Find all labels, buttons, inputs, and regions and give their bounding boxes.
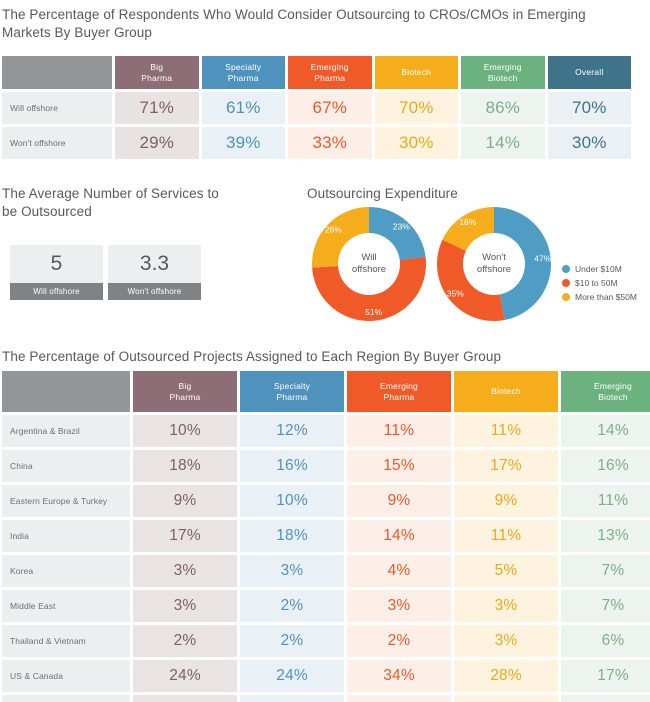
page-title-outsourcing-consideration: The Percentage of Respondents Who Would … [2, 6, 632, 42]
table-row-label: Thailand & Vietnam [2, 625, 130, 657]
table-column-emerging-biotech: EmergingBiotech86%14% [461, 56, 545, 159]
table-cell-value: 12% [240, 415, 344, 447]
table-column-specialty-pharma: SpecialtyPharma12%16%10%18%3%2%2%24%14% [240, 371, 344, 702]
table-cell-value: 24% [240, 660, 344, 692]
donut-svg: 47%35%18% [435, 205, 553, 323]
table-row-label: Korea [2, 555, 130, 587]
table-cell-value: 7% [561, 555, 650, 587]
table-cell-value: 16% [240, 450, 344, 482]
table-cell-value: 14% [240, 695, 344, 702]
donut-svg: 23%51%26% [310, 205, 428, 323]
table-outsourcing-consideration: Will offshoreWon't offshoreBigPharma71%2… [2, 56, 634, 159]
table-cell-value: 3% [454, 590, 558, 622]
table-row-label: Eastern Europe & Turkey [2, 485, 130, 517]
column-header: EmergingPharma [347, 371, 451, 412]
table-cell-value: 70% [375, 92, 459, 124]
table-cell-value: 7% [561, 590, 650, 622]
legend-item-label: $10 to 50M [575, 278, 618, 288]
legend-item-label: More than $50M [575, 292, 637, 302]
column-header [2, 371, 130, 412]
table-cell-value: 17% [454, 450, 558, 482]
table-column-big-pharma: BigPharma71%29% [115, 56, 199, 159]
table-cell-value: 3% [133, 590, 237, 622]
stat-box-will-offshore: 5 Will offshore [10, 245, 103, 300]
stat-label: Will offshore [10, 283, 103, 300]
table-cell-value: 2% [240, 590, 344, 622]
stat-value: 3.3 [108, 245, 201, 283]
column-header: BigPharma [133, 371, 237, 412]
table-cell-value: 34% [347, 660, 451, 692]
legend-color-swatch-icon [562, 279, 570, 287]
table-cell-value: 2% [347, 625, 451, 657]
table-cell-value: 18% [133, 450, 237, 482]
table-row-label: Won't offshore [2, 127, 112, 159]
table-cell-value: 39% [202, 127, 286, 159]
stat-value: 5 [10, 245, 103, 283]
table-cell-value: 16% [561, 450, 650, 482]
table-cell-value: 30% [548, 127, 632, 159]
table-cell-value: 17% [561, 660, 650, 692]
table-cell-value: 17% [133, 520, 237, 552]
table-cell-value: 3% [454, 625, 558, 657]
donut-chart-will-offshore: 23%51%26%Willoffshore [310, 205, 428, 323]
table-cell-value: 14% [133, 695, 237, 702]
table-cell-value: 3% [240, 555, 344, 587]
table-column-emerging-pharma: EmergingPharma11%15%9%14%4%3%2%34%9% [347, 371, 451, 702]
table-cell-value: 14% [347, 520, 451, 552]
donut-slice--10-to-50m [437, 240, 505, 321]
table-cell-value: 4% [347, 555, 451, 587]
table-row-label: Western Europe [2, 695, 130, 702]
table-cell-value: 9% [454, 485, 558, 517]
table-cell-value: 2% [240, 625, 344, 657]
column-header: EmergingBiotech [561, 371, 650, 412]
donut-legend: Under $10M$10 to 50MMore than $50M [562, 262, 637, 304]
donut-slice-more-than-50m [312, 207, 369, 268]
table-cell-value: 11% [347, 415, 451, 447]
table-cell-value: 12% [454, 695, 558, 702]
table-cell-value: 11% [561, 485, 650, 517]
donut-slice-label: 18% [459, 217, 476, 227]
table-row-label: Will offshore [2, 92, 112, 124]
column-header [2, 56, 112, 89]
donut-slice-label: 47% [534, 254, 551, 264]
legend-item-label: Under $10M [575, 264, 622, 274]
table-cell-value: 14% [561, 415, 650, 447]
table-cell-value: 9% [561, 695, 650, 702]
table-cell-value: 29% [115, 127, 199, 159]
table-cell-value: 9% [347, 695, 451, 702]
table-cell-value: 13% [561, 520, 650, 552]
stat-label: Won't offshore [108, 283, 201, 300]
table-cell-value: 5% [454, 555, 558, 587]
donut-chart-wont-offshore: 47%35%18%Won'toffshore [435, 205, 553, 323]
infographic-page: The Percentage of Respondents Who Would … [0, 0, 650, 702]
legend-color-swatch-icon [562, 265, 570, 273]
donut-slice-under-10m [369, 207, 426, 260]
table-cell-value: 15% [347, 450, 451, 482]
table-row-label: India [2, 520, 130, 552]
table-column-biotech: Biotech70%30% [375, 56, 459, 159]
table-cell-value: 10% [133, 415, 237, 447]
table-row-label: China [2, 450, 130, 482]
table-cell-value: 9% [347, 485, 451, 517]
donut-slice-label: 23% [393, 221, 410, 231]
column-header: Biotech [375, 56, 459, 89]
table-cell-value: 30% [375, 127, 459, 159]
table-cell-value: 2% [133, 625, 237, 657]
table-column-biotech: Biotech11%17%9%11%5%3%3%28%12% [454, 371, 558, 702]
table-column-emerging-pharma: EmergingPharma67%33% [288, 56, 372, 159]
donut-slice-label: 35% [447, 288, 464, 298]
column-header: BigPharma [115, 56, 199, 89]
legend-color-swatch-icon [562, 293, 570, 301]
table-column-emerging-biotech: EmergingBiotech14%16%11%13%7%7%6%17%9% [561, 371, 650, 702]
table-cell-value: 70% [548, 92, 632, 124]
column-header: Overall [548, 56, 632, 89]
column-header: SpecialtyPharma [202, 56, 286, 89]
table-cell-value: 3% [133, 555, 237, 587]
table-cell-value: 61% [202, 92, 286, 124]
column-header: EmergingBiotech [461, 56, 545, 89]
column-header: EmergingPharma [288, 56, 372, 89]
table-cell-value: 11% [454, 520, 558, 552]
table-column-big-pharma: BigPharma10%18%9%17%3%3%2%24%14% [133, 371, 237, 702]
table-column-overall: Overall70%30% [548, 56, 632, 159]
table-cell-value: 6% [561, 625, 650, 657]
table-column-labels: Will offshoreWon't offshore [2, 56, 112, 159]
table-cell-value: 28% [454, 660, 558, 692]
table-cell-value: 24% [133, 660, 237, 692]
table-cell-value: 86% [461, 92, 545, 124]
table-cell-value: 33% [288, 127, 372, 159]
donut-slice-label: 51% [365, 307, 382, 317]
stat-box-wont-offshore: 3.3 Won't offshore [108, 245, 201, 300]
section-title-outsourcing-expenditure: Outsourcing Expenditure [307, 185, 547, 203]
donut-slice-label: 26% [325, 225, 342, 235]
table-row-label: US & Canada [2, 660, 130, 692]
table-cell-value: 14% [461, 127, 545, 159]
column-header: Biotech [454, 371, 558, 412]
legend-item: More than $50M [562, 290, 637, 304]
table-cell-value: 71% [115, 92, 199, 124]
table-cell-value: 11% [454, 415, 558, 447]
table-cell-value: 3% [347, 590, 451, 622]
column-header: SpecialtyPharma [240, 371, 344, 412]
table-column-labels: Argentina & BrazilChinaEastern Europe & … [2, 371, 130, 702]
table-outsourced-projects-by-region: Argentina & BrazilChinaEastern Europe & … [2, 371, 650, 702]
table-cell-value: 67% [288, 92, 372, 124]
legend-item: Under $10M [562, 262, 637, 276]
table-row-label: Middle East [2, 590, 130, 622]
section-title-outsourced-projects-by-region: The Percentage of Outsourced Projects As… [2, 348, 642, 366]
table-column-specialty-pharma: SpecialtyPharma61%39% [202, 56, 286, 159]
section-title-average-services: The Average Number of Services to be Out… [2, 185, 232, 221]
table-cell-value: 10% [240, 485, 344, 517]
table-cell-value: 9% [133, 485, 237, 517]
table-cell-value: 18% [240, 520, 344, 552]
table-row-label: Argentina & Brazil [2, 415, 130, 447]
legend-item: $10 to 50M [562, 276, 637, 290]
